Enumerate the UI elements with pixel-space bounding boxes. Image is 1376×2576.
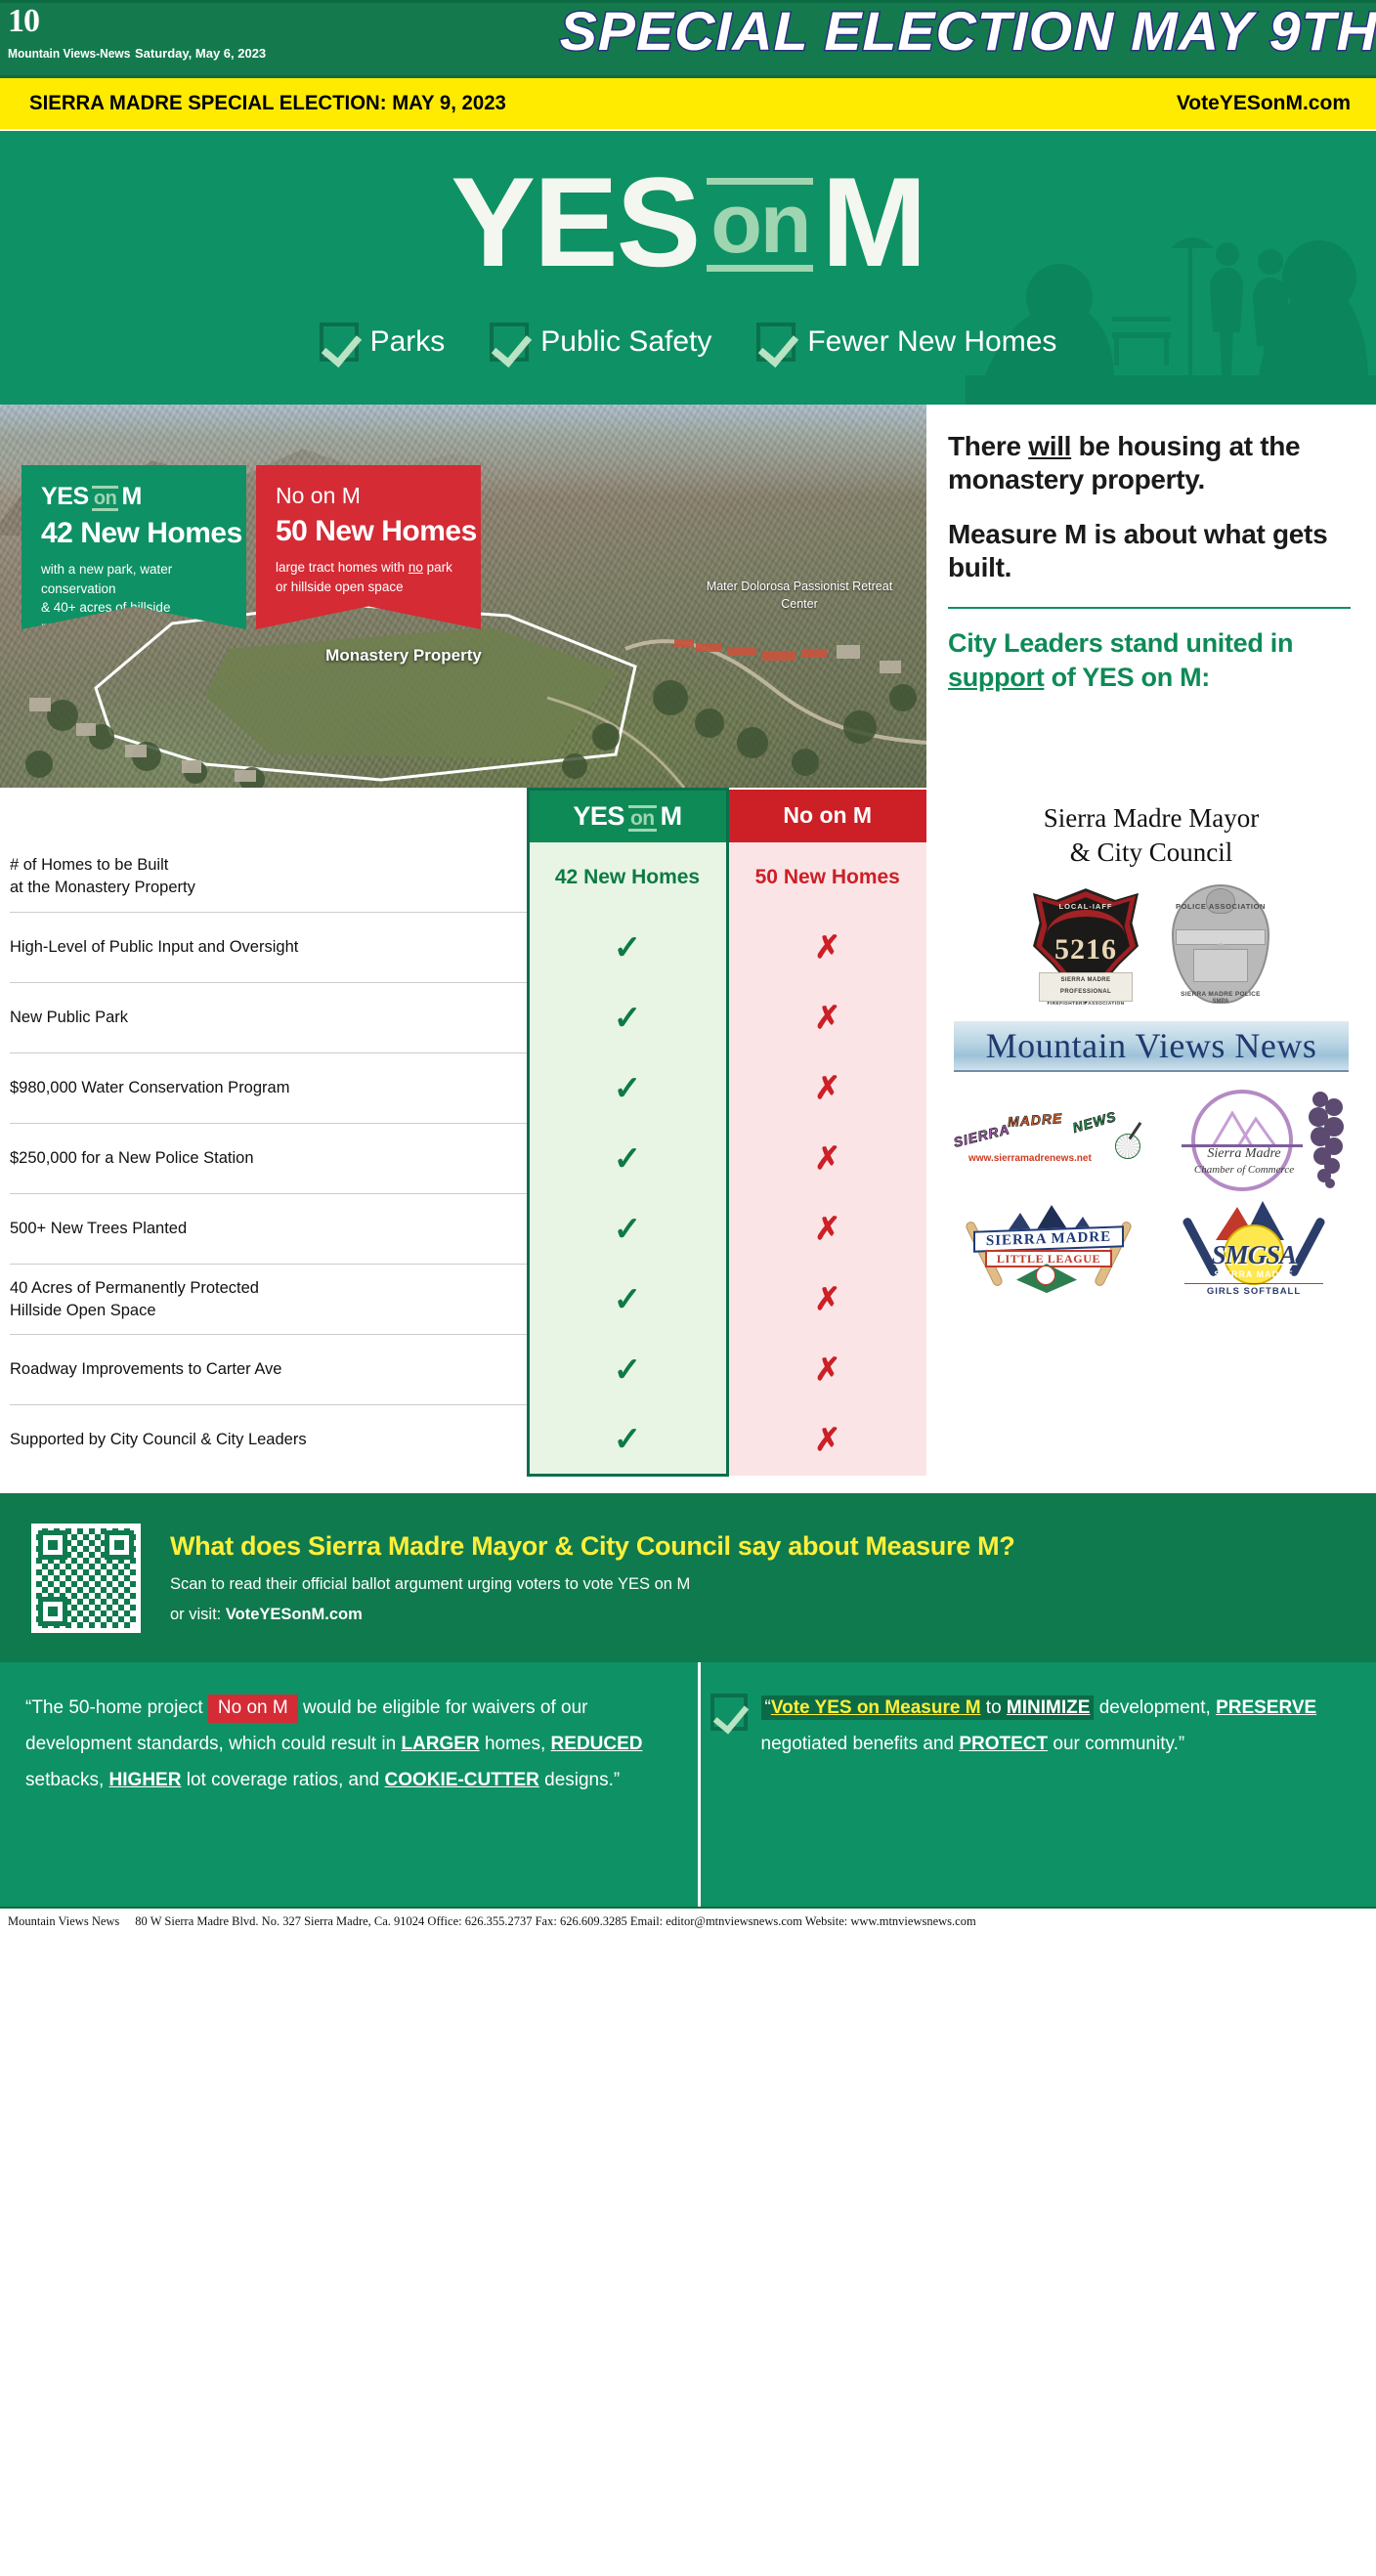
quote-left-p5: lot coverage ratios, and	[181, 1770, 384, 1790]
row-no-mark: ✗	[727, 1053, 926, 1124]
quote-left-p1: “The 50-home project	[25, 1697, 208, 1718]
no-card-sub-line2: or hillside open space	[276, 580, 404, 594]
row-yes-mark: ✓	[528, 1053, 727, 1124]
masthead-paper-name: Mountain Views-News	[8, 46, 130, 61]
fire-banner-line2: PROFESSIONAL	[1040, 985, 1132, 997]
row-label: $250,000 for a New Police Station	[10, 1124, 528, 1194]
table-row: 500+ New Trees Planted ✓ ✗	[10, 1194, 926, 1265]
check-icon: ✓	[614, 1352, 642, 1389]
quote-right-u2: PRESERVE	[1216, 1697, 1316, 1718]
footer-paper-name: Mountain Views News	[8, 1914, 119, 1929]
qr-visit-line: or visit: VoteYESonM.com	[170, 1606, 1015, 1624]
quote-left-u3: HIGHER	[109, 1770, 182, 1790]
smn-word-madre: MADRE	[1008, 1110, 1063, 1130]
check-icon: ✓	[614, 1000, 642, 1037]
fire-badge-number: 5216	[1033, 933, 1139, 966]
comparison-photo-section: Mater Dolorosa Passionist Retreat Center…	[0, 405, 1376, 788]
row-label: Roadway Improvements to Carter Ave	[10, 1335, 528, 1405]
table-row: $250,000 for a New Police Station ✓ ✗	[10, 1124, 926, 1194]
smgsa-sub: SIERRA MADRE	[1198, 1269, 1310, 1279]
hero-banner: YESonM Parks Public Safety Fewer New Hom…	[0, 131, 1376, 405]
quote-right-u3: PROTECT	[959, 1734, 1048, 1754]
row-yes-mark: ✓	[528, 1265, 727, 1335]
row-no-mark: ✗	[727, 1335, 926, 1405]
cross-icon: ✗	[814, 1000, 840, 1035]
quote-right-u1: MINIMIZE	[1007, 1697, 1091, 1718]
qr-call-to-action-band: What does Sierra Madre Mayor & City Coun…	[0, 1490, 1376, 1662]
quote-right-p4: our community.”	[1048, 1734, 1184, 1754]
quote-right-p2: development,	[1094, 1697, 1216, 1718]
hero-benefit-list: Parks Public Safety Fewer New Homes	[0, 322, 1376, 362]
endorsement-title: Sierra Madre Mayor & City Council	[940, 801, 1362, 869]
no-card-sub-b: park	[423, 560, 452, 575]
city-leaders-emphasis: support	[948, 663, 1044, 692]
row-label: Supported by City Council & City Leaders	[10, 1405, 528, 1476]
page-number: 10	[8, 5, 39, 38]
hero-title: YESonM	[0, 158, 1376, 285]
fire-banner-line1: SIERRA MADRE	[1040, 973, 1132, 985]
no-card-home-count: 50 New Homes	[276, 515, 461, 548]
check-icon: ✓	[614, 1140, 642, 1178]
footer-contact-info: 80 W Sierra Madre Blvd. No. 327 Sierra M…	[135, 1914, 975, 1929]
endorsement-column: Sierra Madre Mayor & City Council LOCAL-…	[926, 788, 1376, 1477]
page-footer: Mountain Views News 80 W Sierra Madre Bl…	[0, 1907, 1376, 1934]
quote-right-p3: negotiated benefits and	[761, 1734, 960, 1754]
table-row: Roadway Improvements to Carter Ave ✓ ✗	[10, 1335, 926, 1405]
row-label: # of Homes to be Built at the Monastery …	[10, 842, 528, 913]
chamber-of-commerce-logo: Sierra Madre Chamber of Commerce	[1170, 1086, 1355, 1193]
qr-visit-prefix: or visit:	[170, 1606, 226, 1623]
chamber-line1: Sierra Madre	[1195, 1146, 1293, 1162]
check-icon: ✓	[614, 1281, 642, 1318]
monastery-property-label: Monastery Property	[262, 646, 545, 665]
mountain-views-news-logo: Mountain Views News	[954, 1021, 1349, 1072]
table-header-row: YESonM No on M	[10, 790, 926, 842]
row-label-line2: Hillside Open Space	[10, 1302, 156, 1319]
masthead-date: Saturday, May 6, 2023	[135, 46, 266, 61]
no-card-heading: No on M	[276, 483, 461, 509]
row-no-mark: ✗	[727, 1124, 926, 1194]
checkbox-check-icon	[756, 322, 795, 362]
table-row: Supported by City Council & City Leaders…	[10, 1405, 926, 1476]
table-header-yes-text: YES	[573, 801, 624, 831]
yes-card-on-text: on	[92, 486, 119, 511]
fire-banner-line3: FIREFIGHTERS ASSOCIATION	[1040, 998, 1132, 1008]
table-header-blank	[10, 790, 528, 842]
qr-code[interactable]	[31, 1524, 141, 1633]
checkbox-check-icon	[320, 322, 359, 362]
quote-right-highlight: Vote YES on Measure M	[771, 1697, 981, 1718]
table-header-m-text: M	[661, 801, 682, 831]
housing-statement-a: There	[948, 431, 1028, 461]
quote-left-u4: COOKIE-CUTTER	[385, 1770, 539, 1790]
special-election-banner-title: SPECIAL ELECTION MAY 9TH	[560, 0, 1376, 63]
city-leaders-b: of YES on M:	[1044, 663, 1210, 692]
mountain-icon	[1209, 1111, 1279, 1146]
housing-statement-emphasis: will	[1028, 431, 1071, 461]
quote-left-p6: designs.”	[539, 1770, 620, 1790]
yes-card-heading: YESonM	[41, 483, 227, 511]
retreat-center-label: Mater Dolorosa Passionist Retreat Center	[702, 579, 897, 613]
smn-word-sierra: SIERRA	[952, 1121, 1011, 1150]
table-row: High-Level of Public Input and Oversight…	[10, 913, 926, 983]
sierra-madre-news-logo: SIERRA MADRE NEWS www.sierramadrenews.ne…	[947, 1102, 1152, 1177]
row-yes-mark: ✓	[528, 1124, 727, 1194]
check-icon: ✓	[614, 1421, 642, 1458]
yes-card-m-text: M	[121, 483, 141, 510]
cross-icon: ✗	[814, 1352, 840, 1387]
endorsement-title-line2: & City Council	[1070, 837, 1233, 867]
smgsa-wordmark: SMGSA	[1179, 1240, 1329, 1270]
table-header-no-on-m: No on M	[727, 790, 926, 842]
smn-url-text[interactable]: www.sierramadrenews.net	[968, 1153, 1092, 1164]
city-leaders-statement: City Leaders stand united in support of …	[948, 626, 1351, 695]
row-label-line1: # of Homes to be Built	[10, 856, 168, 874]
row-yes-value: 42 New Homes	[528, 842, 727, 913]
mvn-logo-text: Mountain Views News	[986, 1025, 1317, 1066]
checkbox-check-icon	[710, 1694, 748, 1731]
chamber-line2: Chamber of Commerce	[1187, 1164, 1301, 1176]
quote-right-text: “Vote YES on Measure M to MINIMIZE devel…	[761, 1690, 1357, 1907]
divider	[948, 607, 1351, 609]
masthead: 10 Mountain Views-News Saturday, May 6, …	[0, 0, 1376, 78]
hero-yes: YES	[451, 150, 699, 293]
police-badge-bottom-text: SIERRA MADRE POLICE	[1172, 991, 1269, 998]
cross-icon: ✗	[814, 929, 840, 965]
campaign-website-link[interactable]: VoteYESonM.com	[1177, 92, 1351, 115]
no-card-sub-u: no	[408, 560, 423, 575]
no-on-m-pill: No on M	[208, 1695, 298, 1723]
row-no-mark: ✗	[727, 983, 926, 1053]
row-yes-mark: ✓	[528, 1405, 727, 1476]
row-no-mark: ✗	[727, 1194, 926, 1265]
police-badge-top-text: POLICE ASSOCIATION	[1172, 902, 1269, 911]
fire-badge-banner: SIERRA MADRE PROFESSIONAL FIREFIGHTERS A…	[1039, 972, 1133, 1002]
fire-badge-local-text: LOCAL-IAFF	[1033, 902, 1139, 911]
no-card-description: large tract homes with no park or hillsi…	[276, 558, 461, 596]
quote-right: “Vote YES on Measure M to MINIMIZE devel…	[701, 1662, 1376, 1907]
table-row: New Public Park ✓ ✗	[10, 983, 926, 1053]
row-label: $980,000 Water Conservation Program	[10, 1053, 528, 1124]
row-no-mark: ✗	[727, 1405, 926, 1476]
quote-left-p4: setbacks,	[25, 1770, 109, 1790]
little-league-logo: SIERRA MADRE LITTLE LEAGUE	[966, 1203, 1132, 1293]
row-no-mark: ✗	[727, 1265, 926, 1335]
cross-icon: ✗	[814, 1422, 840, 1457]
quote-left-p3: homes,	[480, 1734, 551, 1754]
quote-right-p1: to	[981, 1697, 1007, 1718]
baseball-icon	[1036, 1266, 1055, 1285]
hero-benefit-fewer-new-homes: Fewer New Homes	[756, 322, 1056, 362]
firefighters-badge-icon: LOCAL-IAFF 5216 SIERRA MADRE PROFESSIONA…	[1033, 888, 1139, 1004]
cross-icon: ✗	[814, 1070, 840, 1105]
check-icon: ✓	[614, 1070, 642, 1107]
qr-visit-url[interactable]: VoteYESonM.com	[226, 1606, 363, 1623]
row-label: New Public Park	[10, 983, 528, 1053]
hero-benefit-public-safety: Public Safety	[490, 322, 711, 362]
qr-headline: What does Sierra Madre Mayor & City Coun…	[170, 1531, 1015, 1562]
sponsor-logo-row: SIERRA MADRE NEWS www.sierramadrenews.ne…	[940, 1086, 1362, 1193]
hero-benefit-label: Parks	[370, 325, 446, 359]
no-card-sub-a: large tract homes with	[276, 560, 408, 575]
argument-text-column: There will be housing at the monastery p…	[926, 405, 1376, 788]
row-label: 500+ New Trees Planted	[10, 1194, 528, 1265]
table-row: # of Homes to be Built at the Monastery …	[10, 842, 926, 913]
wisteria-icon	[1301, 1086, 1355, 1193]
police-badge-acronym: SMPA	[1172, 999, 1269, 1005]
cross-icon: ✗	[814, 1140, 840, 1176]
row-label-line1: 40 Acres of Permanently Protected	[10, 1279, 259, 1297]
measure-m-statement: Measure M is about what gets built.	[948, 518, 1351, 584]
check-icon: ✓	[614, 1211, 642, 1248]
quote-left-u1: LARGER	[401, 1734, 479, 1754]
table-row: 40 Acres of Permanently Protected Hillsi…	[10, 1265, 926, 1335]
comparison-section: YESonM No on M # of Homes to be Built at…	[0, 788, 1376, 1477]
yes-card-home-count: 42 New Homes	[41, 517, 227, 550]
table-row: $980,000 Water Conservation Program ✓ ✗	[10, 1053, 926, 1124]
little-league-line1: SIERRA MADRE	[973, 1225, 1124, 1252]
row-label: High-Level of Public Input and Oversight	[10, 913, 528, 983]
table-header-on-text: on	[628, 805, 657, 832]
city-leaders-a: City Leaders stand united in	[948, 628, 1293, 658]
measure-comparison-table: YESonM No on M # of Homes to be Built at…	[10, 788, 926, 1477]
smgsa-sub2: GIRLS SOFTBALL	[1184, 1283, 1323, 1297]
election-info-bar: SIERRA MADRE SPECIAL ELECTION: MAY 9, 20…	[0, 78, 1376, 131]
row-label-line2: at the Monastery Property	[10, 879, 195, 896]
row-yes-mark: ✓	[528, 983, 727, 1053]
endorsement-title-line1: Sierra Madre Mayor	[1044, 803, 1259, 833]
election-info-label: SIERRA MADRE SPECIAL ELECTION: MAY 9, 20…	[29, 92, 506, 115]
row-yes-mark: ✓	[528, 1194, 727, 1265]
quote-left-text: “The 50-home project No on M would be el…	[25, 1690, 672, 1798]
qr-text-block: What does Sierra Madre Mayor & City Coun…	[170, 1531, 1015, 1624]
yes-on-m-card: YESonM 42 New Homes with a new park, wat…	[21, 465, 246, 629]
row-no-value: 50 New Homes	[727, 842, 926, 913]
smn-word-news: NEWS	[1071, 1108, 1119, 1136]
quote-left-u2: REDUCED	[551, 1734, 643, 1754]
yes-card-sub-line1: with a new park, water conservation	[41, 562, 172, 596]
comparison-table-wrapper: YESonM No on M # of Homes to be Built at…	[0, 788, 926, 1477]
badge-row: LOCAL-IAFF 5216 SIERRA MADRE PROFESSIONA…	[940, 884, 1362, 1004]
quote-section: “The 50-home project No on M would be el…	[0, 1662, 1376, 1907]
row-yes-mark: ✓	[528, 913, 727, 983]
sports-logo-row: SIERRA MADRE LITTLE LEAGUE SMGSA SIERRA …	[940, 1199, 1362, 1297]
smgsa-logo: SMGSA SIERRA MADRE GIRLS SOFTBALL	[1171, 1199, 1337, 1297]
aerial-photo: Mater Dolorosa Passionist Retreat Center…	[0, 405, 926, 788]
hero-on: on	[707, 178, 813, 272]
quote-left: “The 50-home project No on M would be el…	[0, 1662, 701, 1907]
row-yes-mark: ✓	[528, 1335, 727, 1405]
checkbox-check-icon	[490, 322, 529, 362]
cross-icon: ✗	[814, 1281, 840, 1316]
table-header-yes-on-m: YESonM	[528, 790, 727, 842]
cross-icon: ✗	[814, 1211, 840, 1246]
newspaper-icon	[1115, 1134, 1140, 1159]
qr-subtext: Scan to read their official ballot argum…	[170, 1575, 1015, 1594]
hero-m: M	[821, 150, 924, 293]
row-no-mark: ✗	[727, 913, 926, 983]
hero-benefit-parks: Parks	[320, 322, 446, 362]
row-label: 40 Acres of Permanently Protected Hillsi…	[10, 1265, 528, 1335]
yes-card-yes-text: YES	[41, 483, 89, 510]
hero-benefit-label: Fewer New Homes	[807, 325, 1056, 359]
hero-benefit-label: Public Safety	[540, 325, 711, 359]
check-icon: ✓	[614, 929, 642, 966]
no-on-m-card: No on M 50 New Homes large tract homes w…	[256, 465, 481, 629]
housing-statement: There will be housing at the monastery p…	[948, 430, 1351, 496]
police-association-badge-icon: POLICE ASSOCIATION SIERRA MADRE POLICE S…	[1172, 884, 1269, 1004]
